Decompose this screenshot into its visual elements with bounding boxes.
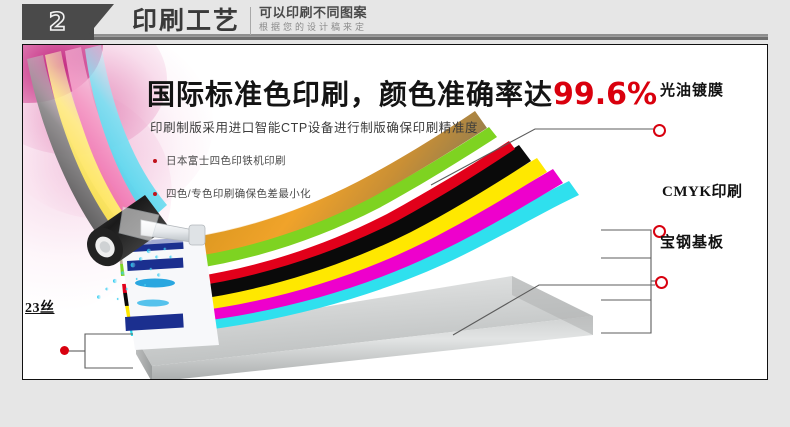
callout-base-label: 宝钢基板 [660,231,724,252]
page-headline: 国际标准色印刷，颜色准确率达99.6% [147,73,657,113]
section-header: 2 印刷工艺 可以印刷不同图案 根据您的设计稿来定 [22,4,768,42]
bullet-label: 四色/专色印刷确保色差最小化 [166,186,311,201]
bracket-thickness [85,334,133,368]
callout-thickness-label: 23丝 [25,297,55,317]
marker-thickness-icon [60,346,69,355]
callout-cmyk-label: CMYK印刷 [662,180,743,201]
bullet-dot-icon [153,159,157,163]
headline-main: 国际标准色印刷，颜色准确率达 [147,79,553,110]
content-panel: 国际标准色印刷，颜色准确率达99.6% 印刷制版采用进口智能CTP设备进行制版确… [22,44,768,380]
marker-varnish-icon [653,124,666,137]
page-subheadline: 印刷制版采用进口智能CTP设备进行制版确保印刷精准度 [150,117,478,136]
header-divider [250,7,251,35]
list-item: 日本富士四色印铁机印刷 [153,153,311,168]
bracket-cmyk [601,230,651,333]
bullet-dot-icon [153,192,157,196]
section-title: 印刷工艺 [132,4,240,38]
headline-highlight: 99.6% [553,77,657,112]
callout-varnish-label: 光油镀膜 [660,79,724,100]
feature-bullet-list: 日本富士四色印铁机印刷 四色/专色印刷确保色差最小化 [153,153,311,219]
marker-cmyk-icon [655,276,668,289]
bullet-label: 日本富士四色印铁机印刷 [166,153,286,168]
header-subtitle-secondary: 根据您的设计稿来定 [259,22,367,32]
printing-process-slide: 2 印刷工艺 可以印刷不同图案 根据您的设计稿来定 [0,0,790,427]
header-subtitle-primary: 可以印刷不同图案 [259,6,367,21]
header-subtitle-group: 可以印刷不同图案 根据您的设计稿来定 [259,6,367,32]
list-item: 四色/专色印刷确保色差最小化 [153,186,311,201]
section-number-label: 2 [22,4,94,40]
